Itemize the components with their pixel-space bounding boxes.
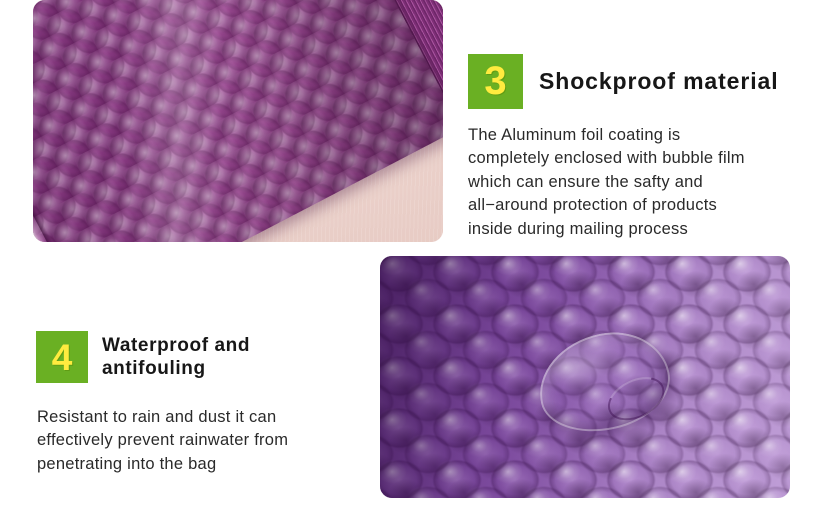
feature-4-title: Waterproof and antifouling (102, 334, 250, 380)
feature-block-4: 4 Waterproof and antifouling Resistant t… (36, 330, 356, 476)
feature-4-description: Resistant to rain and dust it can effect… (37, 406, 356, 476)
feature-4-number-badge: 4 (36, 331, 88, 383)
feature-block-3: 3 Shockproof material The Aluminum foil … (468, 52, 798, 241)
feature-4-header: 4 Waterproof and antifouling (36, 330, 356, 384)
photo-purple-bubble-mailer-corner (33, 0, 443, 242)
feature-3-title: Shockproof material (539, 68, 779, 95)
feature-3-header: 3 Shockproof material (468, 52, 798, 110)
feature-3-number-badge: 3 (468, 54, 523, 109)
photo-water-droplet-on-bubble-wrap (380, 256, 790, 498)
infographic-canvas: 3 Shockproof material The Aluminum foil … (0, 0, 837, 511)
feature-3-description: The Aluminum foil coating is completely … (468, 124, 798, 241)
